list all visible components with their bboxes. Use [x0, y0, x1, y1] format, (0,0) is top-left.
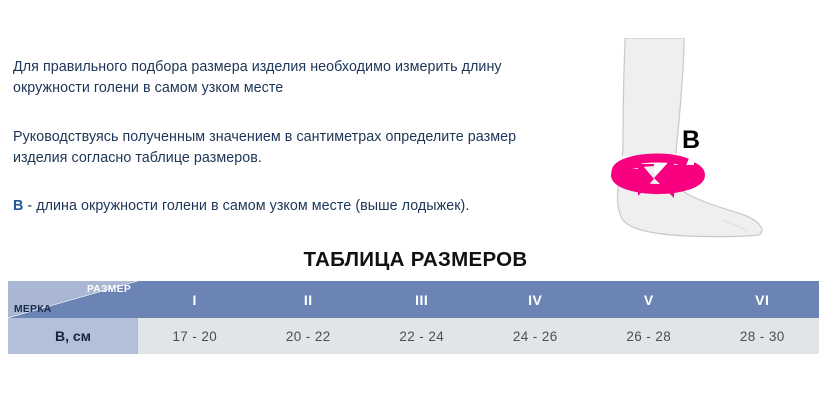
column-header-4: IV	[479, 281, 593, 318]
table-header-row: РАЗМЕР МЕРКА I II III IV V VI	[8, 281, 819, 318]
column-header-1: I	[138, 281, 252, 318]
legend-marker-b: В	[13, 198, 23, 214]
table-corner-cell: РАЗМЕР МЕРКА	[8, 281, 138, 318]
measurement-label-b: B	[682, 126, 700, 155]
instruction-paragraph-1: Для правильного подбора размера изделия …	[13, 57, 533, 99]
cell-size-6: 28 - 30	[706, 318, 820, 354]
cell-size-1: 17 - 20	[138, 318, 252, 354]
instruction-paragraph-2: Руководствуясь полученным значением в са…	[13, 127, 533, 169]
size-table: РАЗМЕР МЕРКА I II III IV V VI В, см 17 -…	[8, 281, 819, 354]
table-row: В, см 17 - 20 20 - 22 22 - 24 24 - 26 26…	[8, 318, 819, 354]
leg-foot-svg	[592, 38, 822, 256]
instructions-block: Для правильного подбора размера изделия …	[13, 57, 533, 217]
corner-label-measure: МЕРКА	[14, 304, 52, 315]
column-header-5: V	[592, 281, 706, 318]
row-label-b-cm: В, см	[8, 318, 138, 354]
measurement-legend: В - длина окружности голени в самом узко…	[13, 196, 533, 217]
column-header-6: VI	[706, 281, 820, 318]
cell-size-2: 20 - 22	[252, 318, 366, 354]
column-header-2: II	[252, 281, 366, 318]
cell-size-4: 24 - 26	[479, 318, 593, 354]
legend-description: - длина окружности голени в самом узком …	[23, 198, 469, 214]
leg-measurement-illustration: B	[592, 38, 822, 256]
size-table-title: ТАБЛИЦА РАЗМЕРОВ	[0, 248, 831, 272]
cell-size-5: 26 - 28	[592, 318, 706, 354]
column-header-3: III	[365, 281, 479, 318]
corner-label-size: РАЗМЕР	[87, 284, 131, 295]
cell-size-3: 22 - 24	[365, 318, 479, 354]
